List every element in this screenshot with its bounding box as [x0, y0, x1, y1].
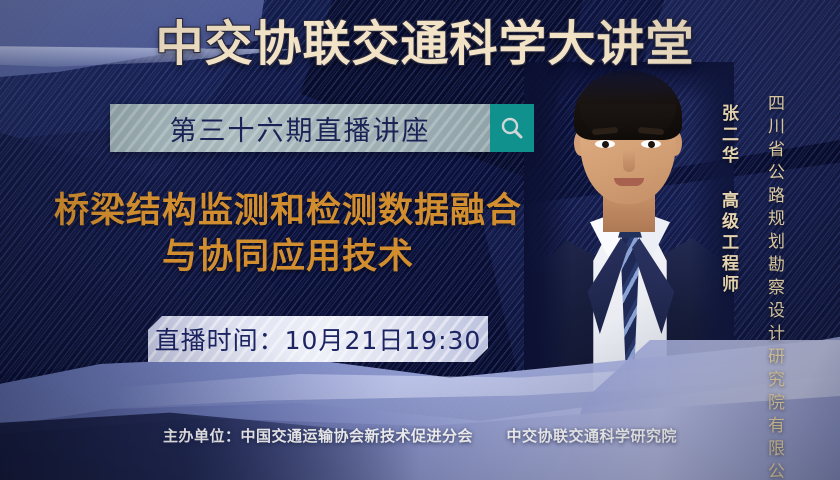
lecture-topic: 桥梁结构监测和检测数据融合 与协同应用技术 — [28, 188, 548, 280]
pupil-left — [602, 141, 609, 148]
poster-canvas: 中交协联交通科学大讲堂 第三十六期直播讲座 桥梁结构监测和检测数据融合 与协同应… — [0, 0, 840, 480]
broadcast-time-label: 直播时间：10月21日19:30 — [155, 321, 482, 357]
page-title: 中交协联交通科学大讲堂 — [0, 16, 840, 72]
speaker-organization: 四川省公路规划勘察设计研究院有限公司 — [762, 94, 787, 480]
nose — [623, 150, 635, 172]
search-button[interactable] — [490, 104, 534, 152]
speaker-name-and-title: 张二华 高级工程师 — [716, 104, 741, 296]
search-icon — [499, 115, 525, 141]
mouth — [614, 178, 644, 186]
topic-line-1: 桥梁结构监测和检测数据融合 — [54, 191, 522, 231]
episode-label: 第三十六期直播讲座 — [170, 109, 431, 148]
broadcast-time-chip: 直播时间：10月21日19:30 — [148, 316, 488, 362]
organizer-primary: 主办单位：中国交通运输协会新技术促进分会 — [163, 427, 473, 445]
organizer-footer: 主办单位：中国交通运输协会新技术促进分会 中交协联交通科学研究院 — [0, 425, 840, 446]
episode-banner: 第三十六期直播讲座 — [110, 104, 490, 152]
organizer-secondary: 中交协联交通科学研究院 — [506, 427, 677, 445]
pupil-right — [648, 141, 655, 148]
topic-line-2: 与协同应用技术 — [28, 234, 548, 280]
